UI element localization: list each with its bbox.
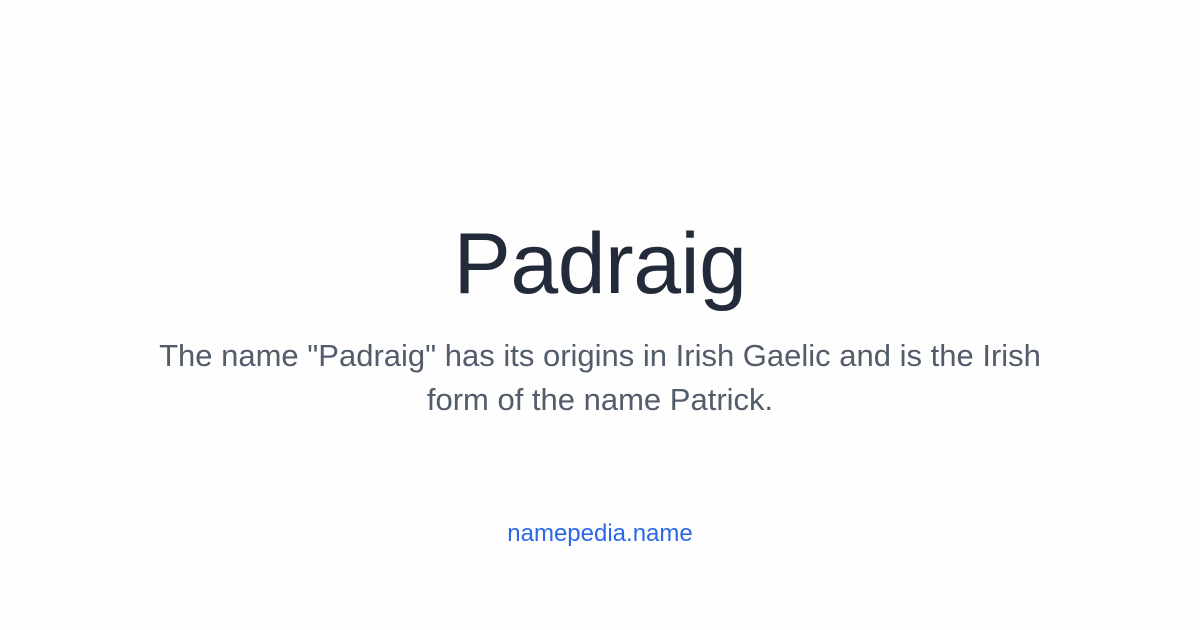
name-description: The name "Padraig" has its origins in Ir… bbox=[150, 334, 1050, 422]
card-content: Padraig The name "Padraig" has its origi… bbox=[0, 0, 1200, 630]
name-meaning-card: Padraig The name "Padraig" has its origi… bbox=[0, 0, 1200, 630]
site-link[interactable]: namepedia.name bbox=[300, 519, 900, 549]
page-title: Padraig bbox=[50, 216, 1150, 312]
